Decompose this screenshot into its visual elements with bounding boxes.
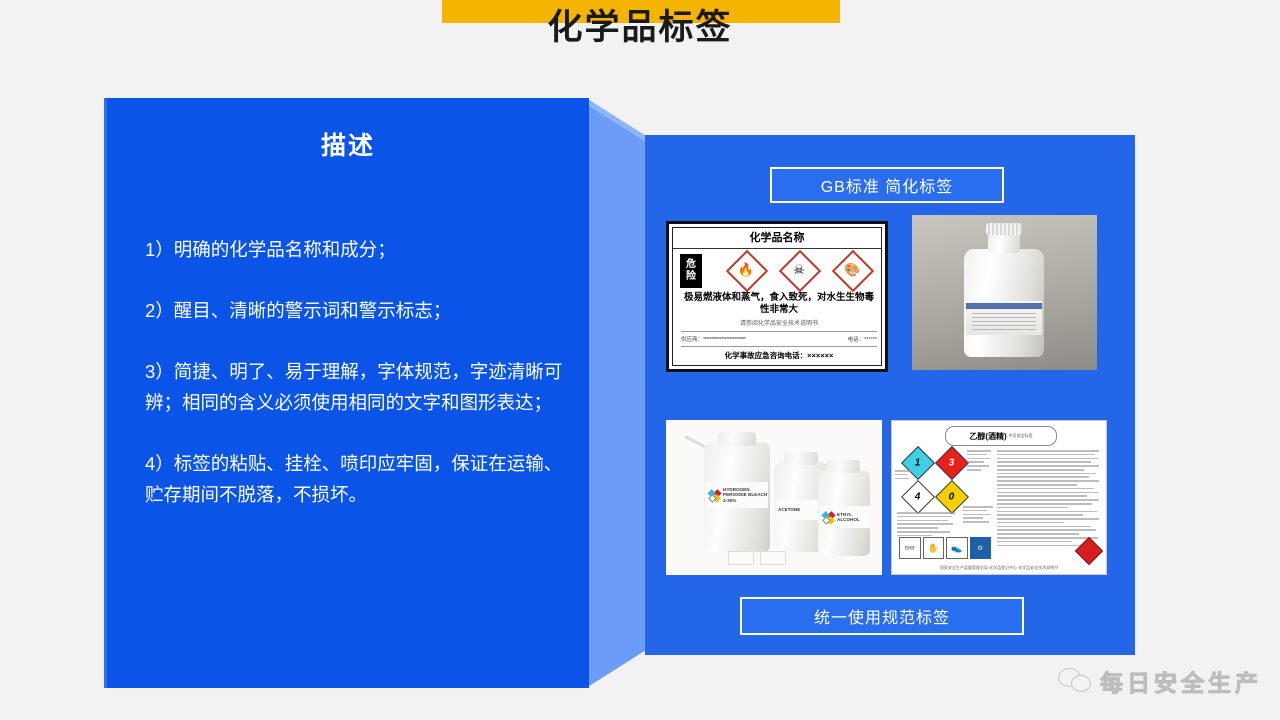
gb-supplier-row: 供应商：************************** 电话：****** <box>681 331 877 343</box>
ppe-pictogram-row: 👓 ✋ 👟 ⚪ <box>899 537 991 559</box>
list-item: 2）醒目、清晰的警示词和警示标志； <box>145 295 575 326</box>
description-panel-face: 描述 1）明确的化学品名称和成分； 2）醒目、清晰的警示词和警示标志； 3）简捷… <box>104 98 589 688</box>
list-item: 3）简捷、明了、易于理解，字体规范，字迹清晰可辨；相同的含义必须使用相同的文字和… <box>145 356 575 418</box>
gb-supplier-value: ************************** <box>703 337 746 343</box>
examples-panel: GB标准 简化标签 化学品名称 危险 🔥 ☠ 🎨 极易燃液体和蒸气，食入致死，对… <box>645 135 1135 655</box>
ethanol-label-footer: 国家安全生产监督管理总局 化学品登记中心 化学品安全技术说明书 <box>901 565 1097 571</box>
gb-sds-note: 请参阅化学品安全技术说明书 <box>683 318 875 327</box>
label-sample-card <box>760 551 786 565</box>
label-text-block-far-left <box>895 470 911 481</box>
label-text-block-first-aid <box>897 512 955 538</box>
label-sample-card <box>728 551 754 565</box>
skull-crossbones-pictogram-icon: ☠ <box>781 252 817 288</box>
label-text-block-left-notes <box>967 450 991 473</box>
gb-signal-word: 危险 <box>680 254 702 288</box>
gb-simplified-label-image: 化学品名称 危险 🔥 ☠ 🎨 极易燃液体和蒸气，食入致死，对水生生物毒性非常大 … <box>666 221 888 372</box>
ethanol-label-title: 乙醇(酒精) 中文安全标签 <box>945 426 1057 446</box>
boots-icon: 👟 <box>946 537 968 559</box>
gb-phone-label: 电话： <box>848 337 865 343</box>
bottle-cap <box>986 223 1022 235</box>
bottle-label-hydrogen-peroxide: HYDROGEN PEROXIDE BLEACH 3-30% <box>706 482 768 508</box>
bottle-label <box>966 301 1042 335</box>
bottle-label-text: ACETONE <box>776 507 800 513</box>
label-text-block-main <box>997 450 1099 548</box>
panel-heading: 描述 <box>107 126 589 162</box>
watermark-text: 每日安全生产 <box>1100 664 1262 698</box>
gb-standard-chip: GB标准 简化标签 <box>770 167 1004 203</box>
label-text-block-left-lower <box>963 506 993 525</box>
respirator-icon: ⚪ <box>970 537 992 559</box>
three-lab-bottles-photo: HYDROGEN PEROXIDE BLEACH 3-30% ACETONE E… <box>666 420 882 575</box>
list-item: 4）标签的粘贴、挂栓、喷印应牢固，保证在运输、贮存期间不脱落，不损坏。 <box>145 448 575 510</box>
bottle-cap-acetone <box>784 452 818 465</box>
page-title: 化学品标签 <box>0 2 1280 54</box>
gb-emergency-line: 化学事故应急咨询电话：×××××× <box>681 346 877 361</box>
gb-phone-value: ****** <box>864 337 877 343</box>
environment-pictogram-icon: 🎨 <box>834 252 870 288</box>
wechat-icon <box>1058 668 1092 694</box>
bottle-cap-hydrogen-peroxide <box>718 432 756 446</box>
goggles-icon: 👓 <box>899 537 921 559</box>
bottle-cap-ethyl-alcohol <box>826 460 860 473</box>
description-list: 1）明确的化学品名称和成分； 2）醒目、清晰的警示词和警示标志； 3）简捷、明了… <box>145 234 575 510</box>
gb-hazard-statement: 极易燃液体和蒸气，食入致死，对水生生物毒性非常大 <box>683 292 875 316</box>
flame-pictogram-icon: 🔥 <box>728 252 764 288</box>
watermark: 每日安全生产 <box>1058 664 1262 698</box>
bottle-label-ethyl-alcohol: ETHYL ALCOHOL <box>820 506 870 528</box>
ghs-pictogram-row: 🔥 ☠ 🎨 <box>719 252 879 290</box>
description-panel: 描述 1）明确的化学品名称和成分； 2）醒目、清晰的警示词和警示标志； 3）简捷… <box>104 98 644 688</box>
bottle-label-text: HYDROGEN PEROXIDE BLEACH 3-30% <box>721 487 768 504</box>
list-item: 1）明确的化学品名称和成分； <box>145 234 575 265</box>
unified-label-chip: 统一使用规范标签 <box>740 597 1024 635</box>
panel-3d-side-face <box>586 98 646 688</box>
gloves-icon: ✋ <box>923 537 945 559</box>
gb-supplier-label: 供应商： <box>681 337 703 343</box>
gb-product-name: 化学品名称 <box>673 228 881 249</box>
reagent-bottle-photo <box>912 215 1097 370</box>
bottle-label-text: ETHYL ALCOHOL <box>835 512 870 523</box>
ethanol-safety-label-image: 乙醇(酒精) 中文安全标签 3 1 0 4 <box>891 420 1107 575</box>
